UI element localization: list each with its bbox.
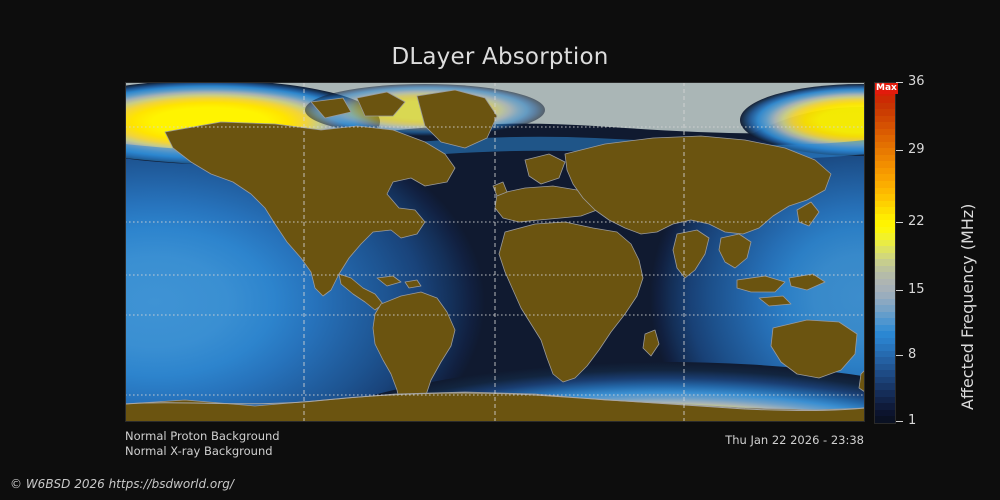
colorbar-tick: 22 [896,222,956,223]
colorbar-tick-label: 29 [908,141,925,158]
page-title: DLayer Absorption [0,44,1000,70]
colorbar-tick-mark [896,222,903,223]
colorbar-tick: 1 [896,421,956,422]
colorbar-max-badge: Max [875,83,898,94]
colorbar-tick-label: 15 [908,281,925,298]
colorbar-tick-label: 1 [908,412,916,429]
colorbar[interactable] [874,82,896,424]
colorbar-band [875,416,895,423]
colorbar-tick-mark [896,150,903,151]
timestamp: Thu Jan 22 2026 - 23:38 [725,433,864,447]
colorbar-tick: 15 [896,290,956,291]
world-absorption-map[interactable] [125,82,865,422]
colorbar-tick: 8 [896,355,956,356]
colorbar-tick-label: 36 [908,73,925,90]
xray-background-status: Normal X-ray Background [125,444,273,459]
colorbar-tick-mark [896,290,903,291]
colorbar-axis-label: Affected Frequency (MHz) [958,204,977,410]
colorbar-tick-label: 8 [908,346,916,363]
colorbar-tick: 29 [896,150,956,151]
colorbar-tick: 36 [896,82,956,83]
colorbar-tick-mark [896,355,903,356]
colorbar-tick-mark [896,421,903,422]
colorbar-tick-mark [896,82,903,83]
proton-background-status: Normal Proton Background [125,429,280,444]
map-canvas [125,82,865,422]
colorbar-tick-label: 22 [908,213,925,230]
copyright-notice: © W6BSD 2026 https://bsdworld.org/ [10,477,234,491]
app-root: DLayer Absorption [0,0,1000,500]
